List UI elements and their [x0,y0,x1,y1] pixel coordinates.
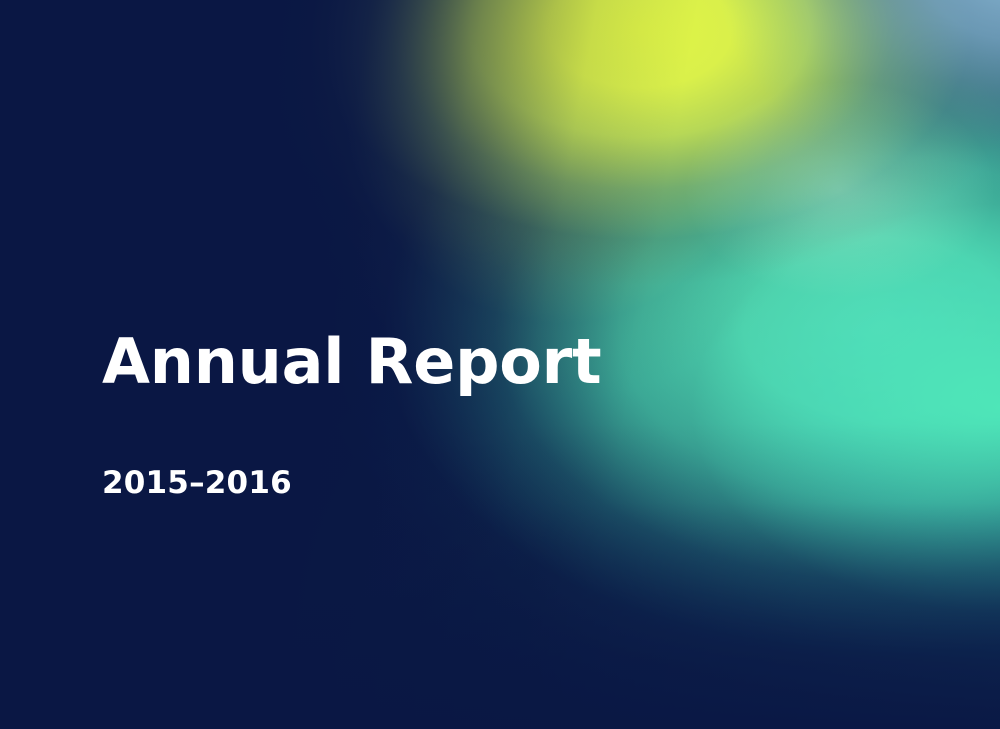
page-title: Annual Report [102,331,601,393]
cover-text-block: Annual Report 2015–2016 [0,0,1000,729]
page-subtitle: 2015–2016 [102,468,292,499]
report-cover: Annual Report 2015–2016 [0,0,1000,729]
